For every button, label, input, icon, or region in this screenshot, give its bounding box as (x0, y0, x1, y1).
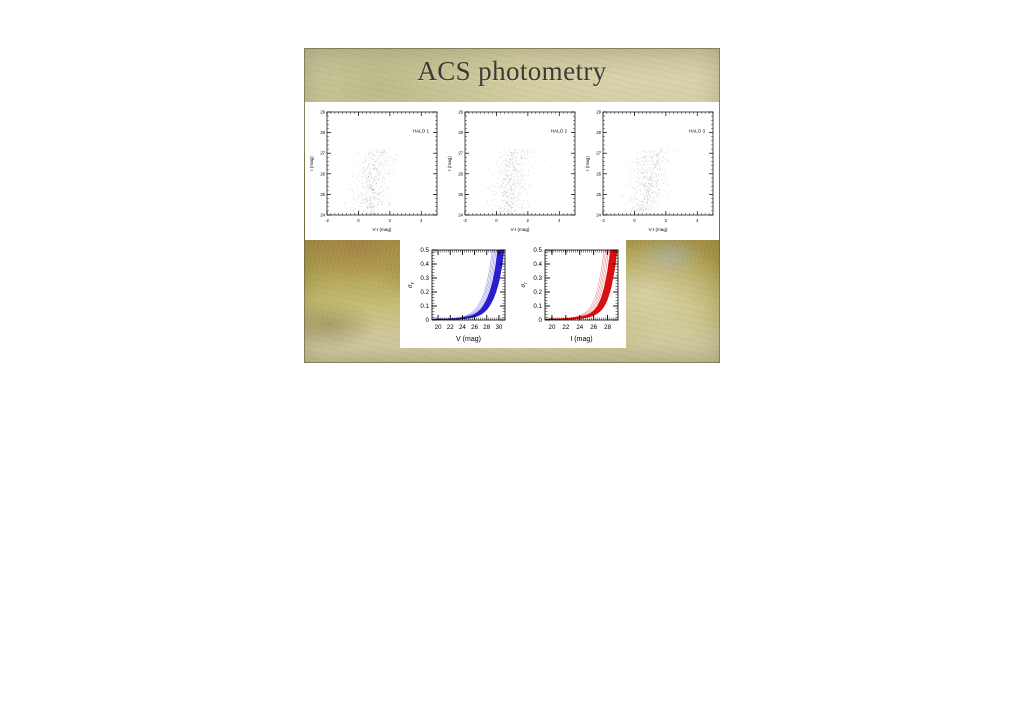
svg-text:0.1: 0.1 (533, 303, 542, 310)
svg-text:27: 27 (596, 151, 601, 156)
svg-text:V-I (mag): V-I (mag) (373, 227, 392, 232)
sigma-chart-1: 20222426283000.10.20.30.40.5V (mag)σV (400, 240, 513, 348)
cmd-panel-halo-2: -2024242526272829V-I (mag)I (mag)HALO 2 (443, 102, 581, 240)
svg-text:25: 25 (458, 192, 463, 197)
svg-text:24: 24 (596, 213, 601, 218)
svg-text:0.2: 0.2 (533, 289, 542, 296)
svg-text:22: 22 (562, 324, 569, 331)
svg-text:4: 4 (420, 218, 423, 223)
svg-text:0.4: 0.4 (533, 261, 542, 268)
cmd-panel-band: -2024242526272829V-I (mag)I (mag)HALO 1 … (305, 102, 719, 240)
svg-text:I (mag): I (mag) (447, 156, 452, 171)
svg-text:24: 24 (320, 213, 325, 218)
svg-text:28: 28 (483, 324, 490, 331)
svg-text:HALO 3: HALO 3 (689, 129, 706, 134)
svg-text:27: 27 (320, 151, 325, 156)
svg-text:0.3: 0.3 (420, 275, 429, 282)
svg-text:0.5: 0.5 (533, 247, 542, 254)
svg-text:24: 24 (458, 213, 463, 218)
svg-text:26: 26 (320, 171, 325, 176)
svg-text:0: 0 (495, 218, 498, 223)
svg-text:-2: -2 (601, 218, 605, 223)
svg-text:30: 30 (495, 324, 502, 331)
sigma-v-panel: 20222426283000.10.20.30.40.5V (mag)σV (400, 240, 513, 348)
svg-text:29: 29 (596, 110, 601, 115)
svg-text:28: 28 (596, 130, 601, 135)
cmd-chart-2: -2024242526272829V-I (mag)I (mag)HALO 2 (443, 102, 581, 240)
svg-text:0: 0 (357, 218, 360, 223)
svg-text:V-I (mag): V-I (mag) (511, 227, 530, 232)
svg-text:4: 4 (696, 218, 699, 223)
sigma-i-panel: 202224262800.10.20.30.40.5I (mag)σI (513, 240, 626, 348)
svg-text:σV: σV (406, 281, 415, 288)
svg-text:0: 0 (539, 317, 543, 324)
svg-text:σI: σI (519, 282, 528, 287)
svg-text:0: 0 (633, 218, 636, 223)
svg-text:0.4: 0.4 (420, 261, 429, 268)
svg-text:I (mag): I (mag) (309, 156, 314, 171)
svg-text:28: 28 (320, 130, 325, 135)
sigma-chart-2: 202224262800.10.20.30.40.5I (mag)σI (513, 240, 626, 348)
cmd-panel-halo-1: -2024242526272829V-I (mag)I (mag)HALO 1 (305, 102, 443, 240)
svg-text:0.3: 0.3 (533, 275, 542, 282)
svg-text:29: 29 (320, 110, 325, 115)
svg-text:2: 2 (665, 218, 668, 223)
svg-text:V (mag): V (mag) (456, 336, 481, 343)
svg-text:0: 0 (426, 317, 430, 324)
svg-text:0.1: 0.1 (420, 303, 429, 310)
svg-text:29: 29 (458, 110, 463, 115)
svg-text:26: 26 (458, 171, 463, 176)
svg-text:28: 28 (604, 324, 611, 331)
svg-text:27: 27 (458, 151, 463, 156)
svg-text:HALO 2: HALO 2 (551, 129, 568, 134)
svg-text:20: 20 (435, 324, 442, 331)
cmd-chart-3: -2024242526272829V-I (mag)I (mag)HALO 3 (581, 102, 719, 240)
svg-text:22: 22 (447, 324, 454, 331)
svg-text:2: 2 (389, 218, 392, 223)
svg-text:25: 25 (596, 192, 601, 197)
svg-text:I (mag): I (mag) (585, 156, 590, 171)
svg-text:26: 26 (471, 324, 478, 331)
svg-text:2: 2 (527, 218, 530, 223)
svg-text:26: 26 (590, 324, 597, 331)
svg-text:0.5: 0.5 (420, 247, 429, 254)
sigma-panel-inset: 20222426283000.10.20.30.40.5V (mag)σV 20… (400, 240, 626, 348)
svg-text:26: 26 (596, 171, 601, 176)
cmd-panel-halo-3: -2024242526272829V-I (mag)I (mag)HALO 3 (581, 102, 719, 240)
svg-text:V-I (mag): V-I (mag) (649, 227, 668, 232)
svg-text:-2: -2 (325, 218, 329, 223)
svg-text:-2: -2 (463, 218, 467, 223)
svg-text:25: 25 (320, 192, 325, 197)
svg-text:24: 24 (459, 324, 466, 331)
svg-text:24: 24 (576, 324, 583, 331)
svg-text:20: 20 (549, 324, 556, 331)
svg-text:I (mag): I (mag) (570, 336, 592, 343)
svg-text:4: 4 (558, 218, 561, 223)
slide-title: ACS photometry (304, 56, 720, 87)
svg-text:HALO 1: HALO 1 (413, 129, 430, 134)
svg-text:0.2: 0.2 (420, 289, 429, 296)
slide-canvas: ACS photometry -2024242526272829V-I (mag… (304, 48, 720, 363)
svg-text:28: 28 (458, 130, 463, 135)
cmd-chart-1: -2024242526272829V-I (mag)I (mag)HALO 1 (305, 102, 443, 240)
